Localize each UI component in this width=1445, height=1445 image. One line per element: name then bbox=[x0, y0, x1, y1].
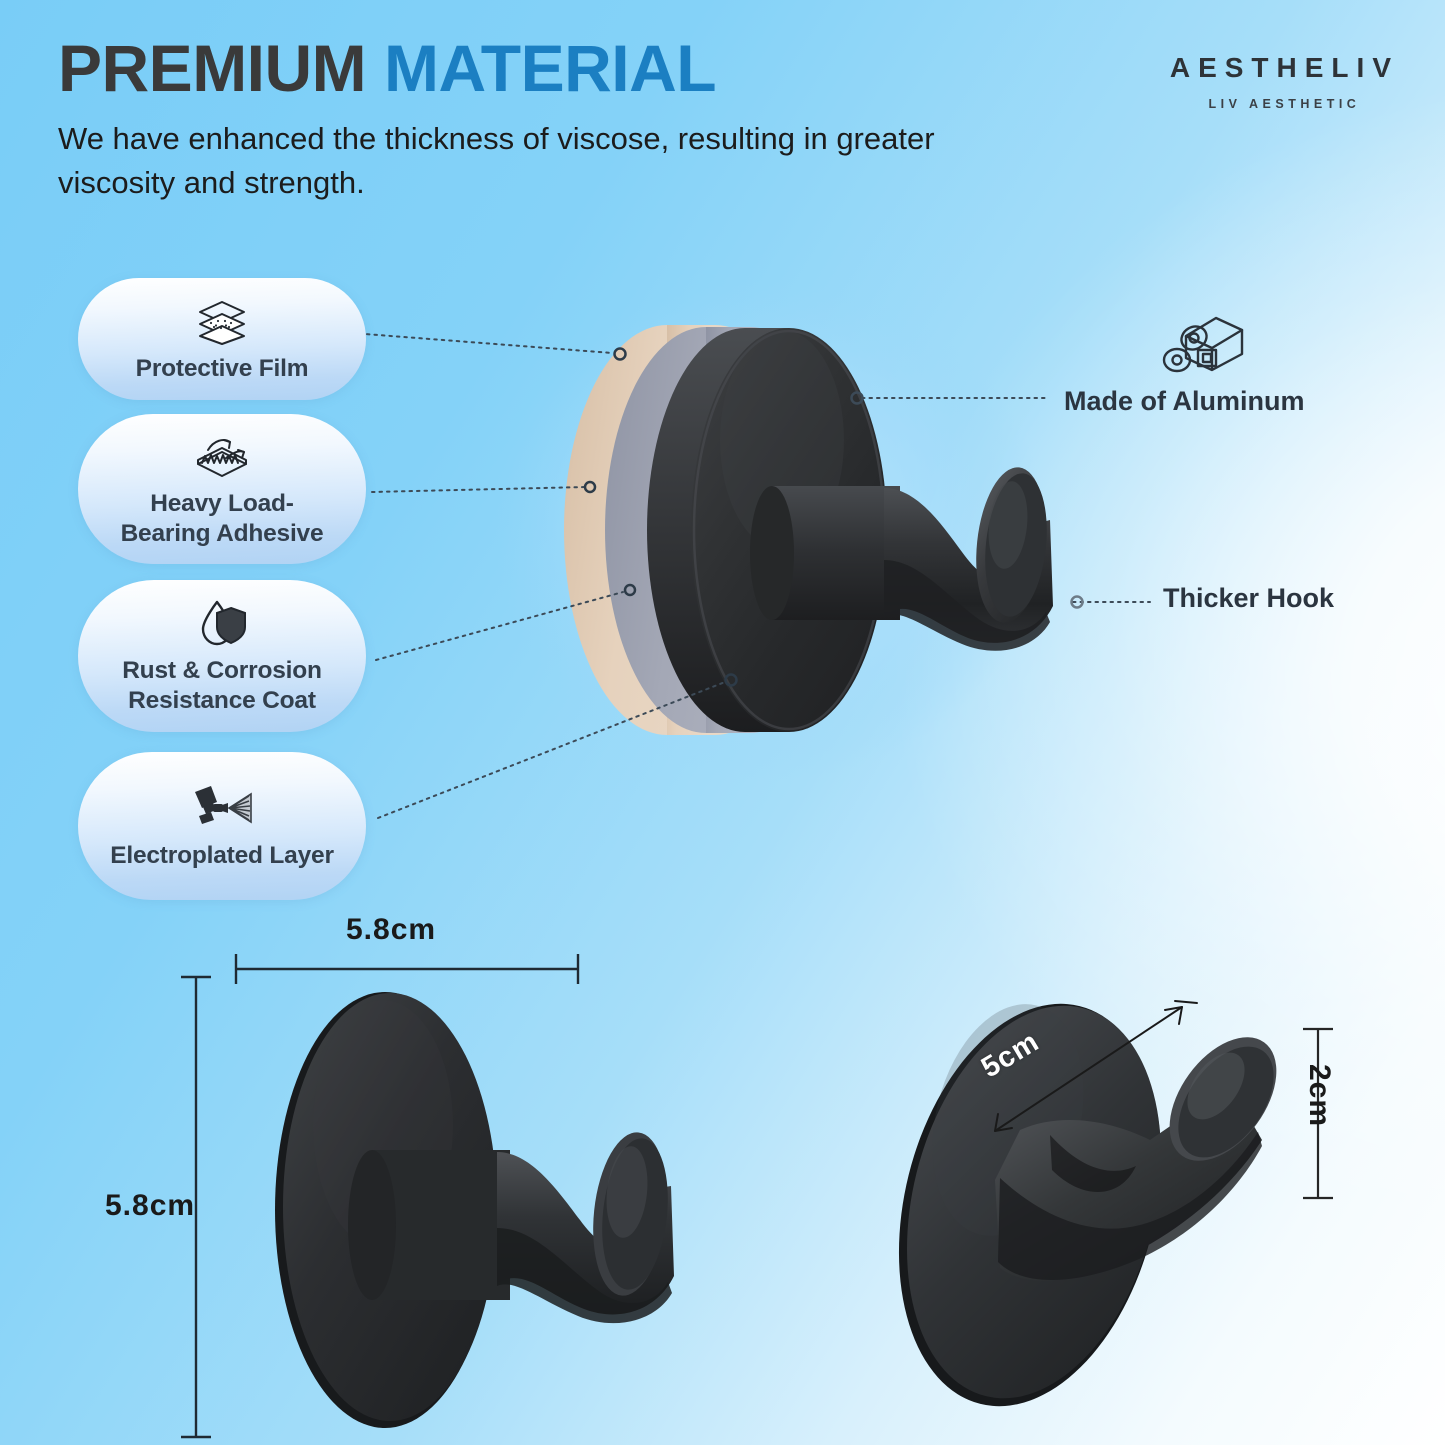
water-shield-icon bbox=[195, 596, 249, 652]
title-premium: PREMIUM bbox=[58, 31, 366, 105]
adhesive-icon bbox=[188, 429, 256, 485]
brand-name: AESTHELIV bbox=[1170, 52, 1399, 84]
feature-pill-electroplated-layer[interactable]: Electroplated Layer bbox=[78, 752, 366, 900]
feature-label: Protective Film bbox=[126, 354, 319, 384]
feature-pill-protective-film[interactable]: Protective Film bbox=[78, 278, 366, 400]
feature-pill-heavy-load-adhesive[interactable]: Heavy Load-Bearing Adhesive bbox=[78, 414, 366, 564]
infographic-canvas: PREMIUM MATERIAL We have enhanced the th… bbox=[0, 0, 1445, 1445]
callout-label-aluminum: Made of Aluminum bbox=[1064, 386, 1305, 417]
dimension-depth-label: 5cm bbox=[976, 1026, 1045, 1086]
callout-label-thicker-hook: Thicker Hook bbox=[1163, 583, 1334, 614]
product-front-view bbox=[275, 992, 675, 1428]
feature-label: Rust & CorrosionResistance Coat bbox=[112, 656, 332, 716]
dimension-height-label: 5.8cm bbox=[105, 1189, 195, 1223]
feature-label: Heavy Load-Bearing Adhesive bbox=[111, 489, 334, 549]
product-angled-view bbox=[859, 976, 1298, 1434]
layers-icon bbox=[194, 294, 250, 350]
dimension-hook-height-label: 2cm bbox=[1302, 1064, 1336, 1127]
page-title: PREMIUM MATERIAL bbox=[58, 34, 1008, 103]
dimension-width-label: 5.8cm bbox=[346, 913, 436, 947]
spray-gun-icon bbox=[189, 781, 255, 837]
header: PREMIUM MATERIAL We have enhanced the th… bbox=[58, 34, 1008, 205]
brand-logo: AESTHELIV LIV AESTHETIC bbox=[1170, 52, 1399, 111]
feature-pill-rust-corrosion[interactable]: Rust & CorrosionResistance Coat bbox=[78, 580, 366, 732]
title-material: MATERIAL bbox=[384, 31, 716, 105]
brand-tagline: LIV AESTHETIC bbox=[1170, 97, 1399, 111]
aluminum-pipes-icon bbox=[1158, 312, 1250, 387]
subtitle: We have enhanced the thickness of viscos… bbox=[58, 117, 988, 205]
feature-label: Electroplated Layer bbox=[100, 841, 344, 871]
